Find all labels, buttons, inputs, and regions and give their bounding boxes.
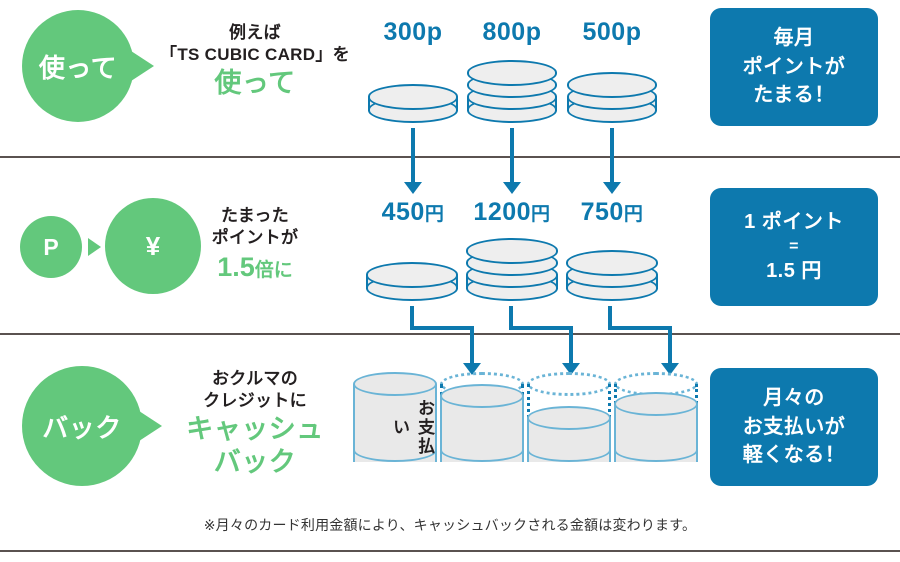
- callout-line-3: 1.5 円: [766, 257, 822, 285]
- multiplier-unit: 倍に: [255, 260, 293, 281]
- callout-line-1: 1 ポイント: [744, 208, 844, 236]
- points-label-2: 800p: [467, 18, 557, 47]
- elbow-3-across: [608, 326, 672, 330]
- callout-line-3: 軽くなる！: [743, 441, 846, 469]
- yen-unit-1: 円: [425, 204, 445, 225]
- desc-line-2: クレジットに: [165, 390, 345, 412]
- step-bubble-back: バック: [22, 366, 142, 486]
- callout-line-3: たまる！: [753, 81, 834, 109]
- row-divider-1: [0, 156, 900, 158]
- desc-line-2: ポイントが: [165, 227, 345, 249]
- desc-line-1: たまった: [165, 205, 345, 227]
- yen-value-1: 450: [382, 198, 425, 226]
- coin-stack-450yen: [366, 262, 458, 302]
- points-label-1: 300p: [368, 18, 458, 47]
- desc-line-1: おクルマの: [165, 368, 345, 390]
- flow-arrow-3-line: [610, 128, 614, 184]
- yen-label-3: 750円: [565, 198, 659, 227]
- callout-box-lower-payment: 月々の お支払いが 軽くなる！: [710, 368, 878, 486]
- cylinder-original-top-dotted: [527, 372, 611, 396]
- yen-circle-label: ¥: [146, 231, 160, 262]
- coin-disc: [567, 72, 657, 98]
- step-bubble-use: 使って: [22, 10, 134, 122]
- desc-highlight: 1.5倍に: [165, 250, 345, 286]
- coin-disc: [467, 60, 557, 86]
- row-divider-3: [0, 550, 900, 552]
- elbow-1-drop: [470, 326, 474, 366]
- elbow-3-drop: [668, 326, 672, 366]
- callout-box-point-rate: 1 ポイント = 1.5 円: [710, 188, 878, 306]
- bubble-tail-icon: [136, 409, 162, 443]
- coin-stack-1200yen: [466, 238, 558, 302]
- coin-stack-500p: [567, 72, 657, 124]
- callout-line-1: 毎月: [774, 24, 815, 52]
- coin-disc: [566, 250, 658, 276]
- step-bubble-back-label: バック: [42, 408, 122, 445]
- callout-line-1: 月々の: [763, 384, 825, 412]
- coin-disc: [466, 238, 558, 264]
- infographic-root: 使って 例えば 「TS CUBIC CARD」を 使って 300p 800p 5…: [0, 0, 900, 562]
- yen-value-2: 1200: [473, 198, 531, 226]
- points-label-3: 500p: [567, 18, 657, 47]
- cylinder-fill-top: [527, 406, 611, 430]
- point-circle-label: P: [43, 234, 58, 261]
- yen-label-2: 1200円: [463, 198, 561, 227]
- point-circle-icon: P: [20, 216, 82, 278]
- desc-highlight-2: バック: [165, 446, 345, 479]
- desc-highlight-1: キャッシュ: [165, 413, 345, 446]
- yen-unit-3: 円: [624, 204, 644, 225]
- coin-disc: [366, 262, 458, 288]
- cylinder-label: お支払い: [353, 394, 437, 460]
- yen-unit-2: 円: [531, 204, 551, 225]
- coin-stack-300p: [368, 84, 458, 124]
- flow-arrow-2-line: [510, 128, 514, 184]
- desc-line-2: 「TS CUBIC CARD」を: [160, 44, 350, 66]
- step-bubble-use-label: 使って: [39, 48, 117, 85]
- convert-arrow-icon: [88, 238, 101, 256]
- cylinder-fill-top: [614, 392, 698, 416]
- step-description-use: 例えば 「TS CUBIC CARD」を 使って: [160, 22, 350, 100]
- flow-arrow-1-line: [411, 128, 415, 184]
- flow-arrow-1-head-icon: [404, 182, 422, 194]
- payment-cylinder-reduced-450: [440, 372, 524, 474]
- yen-label-1: 450円: [366, 198, 460, 227]
- payment-cylinder-reduced-1200: [527, 372, 611, 474]
- elbow-2-across: [509, 326, 573, 330]
- payment-cylinder-reduced-750: [614, 372, 698, 474]
- flow-arrow-2-head-icon: [503, 182, 521, 194]
- coin-disc: [368, 84, 458, 110]
- step-description-convert: たまった ポイントが 1.5倍に: [165, 205, 345, 286]
- desc-highlight: 使って: [160, 67, 350, 100]
- step-description-cashback: おクルマの クレジットに キャッシュ バック: [165, 368, 345, 479]
- cylinder-fill-top: [440, 384, 524, 408]
- callout-box-points-accumulate: 毎月 ポイントが たまる！: [710, 8, 878, 126]
- callout-line-2: ポイントが: [743, 53, 846, 81]
- multiplier-value: 1.5: [217, 252, 255, 282]
- desc-line-1: 例えば: [160, 22, 350, 44]
- coin-stack-750yen: [566, 250, 658, 302]
- footnote-text: ※月々のカード利用金額により、キャッシュバックされる金額は変わります。: [0, 515, 900, 535]
- bubble-tail-icon: [128, 49, 154, 83]
- flow-arrow-3-head-icon: [603, 182, 621, 194]
- yen-value-3: 750: [581, 198, 624, 226]
- elbow-1-across: [410, 326, 474, 330]
- cylinder-fill-top: [353, 372, 437, 396]
- elbow-2-drop: [569, 326, 573, 366]
- payment-cylinder-full: お支払い: [353, 372, 437, 474]
- callout-line-2: お支払いが: [743, 413, 846, 441]
- coin-stack-800p: [467, 60, 557, 124]
- callout-line-2: =: [789, 237, 799, 258]
- row-divider-2: [0, 333, 900, 335]
